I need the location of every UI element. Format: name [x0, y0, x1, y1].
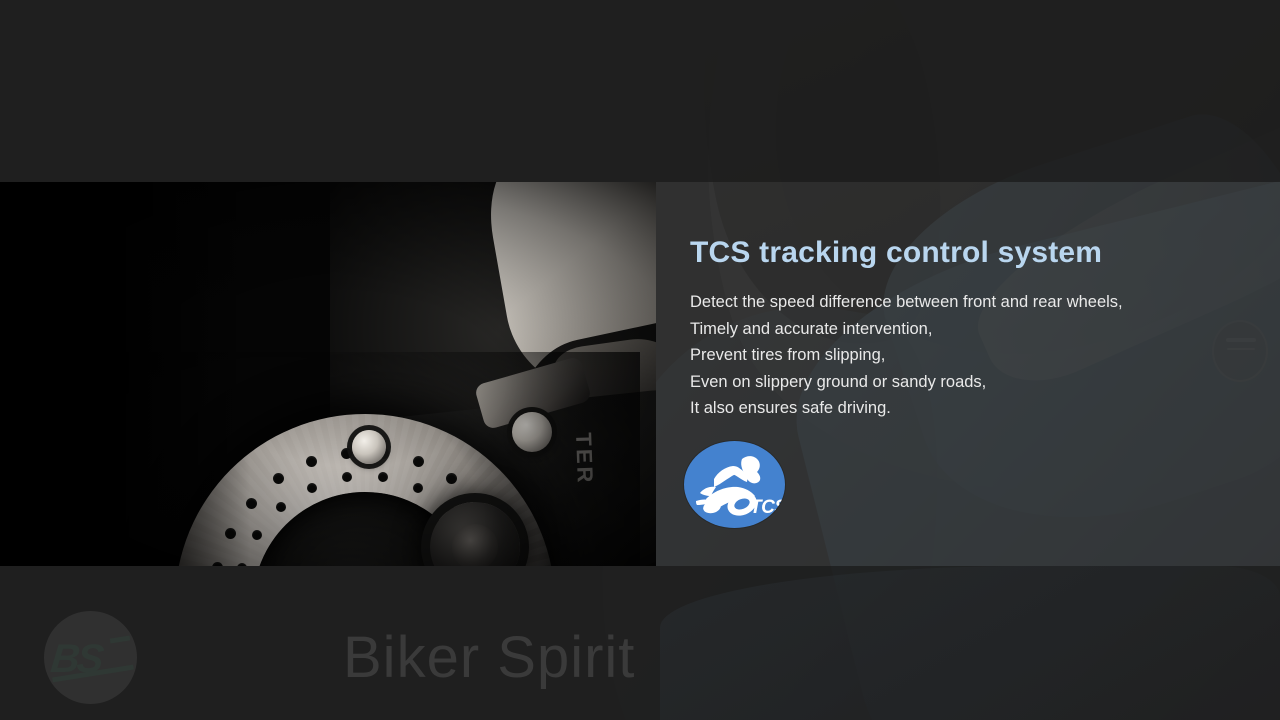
panel-body: Detect the speed difference between fron… [690, 289, 1123, 422]
photo-vignette [0, 182, 656, 566]
body-line: Detect the speed difference between fron… [690, 289, 1123, 316]
bs-logo-tick [110, 635, 131, 643]
body-line: Prevent tires from slipping, [690, 342, 1123, 369]
top-letterbox-band [0, 0, 1280, 182]
brand-name: Biker Spirit [343, 624, 635, 691]
panel-title: TCS tracking control system [690, 236, 1102, 270]
bs-circle-logo-icon: BS [44, 611, 137, 704]
body-line: Even on slippery ground or sandy roads, [690, 369, 1123, 396]
body-line: Timely and accurate intervention, [690, 316, 1123, 343]
brake-disc-photo: TER [0, 182, 656, 566]
bottom-letterbox-band [0, 566, 1280, 720]
presentation-slide: TER TCS tracking control system Detect t… [0, 0, 1280, 720]
tcs-motorcycle-badge-icon: TCS [684, 441, 785, 528]
body-line: It also ensures safe driving. [690, 395, 1123, 422]
svg-text:TCS: TCS [750, 497, 785, 518]
